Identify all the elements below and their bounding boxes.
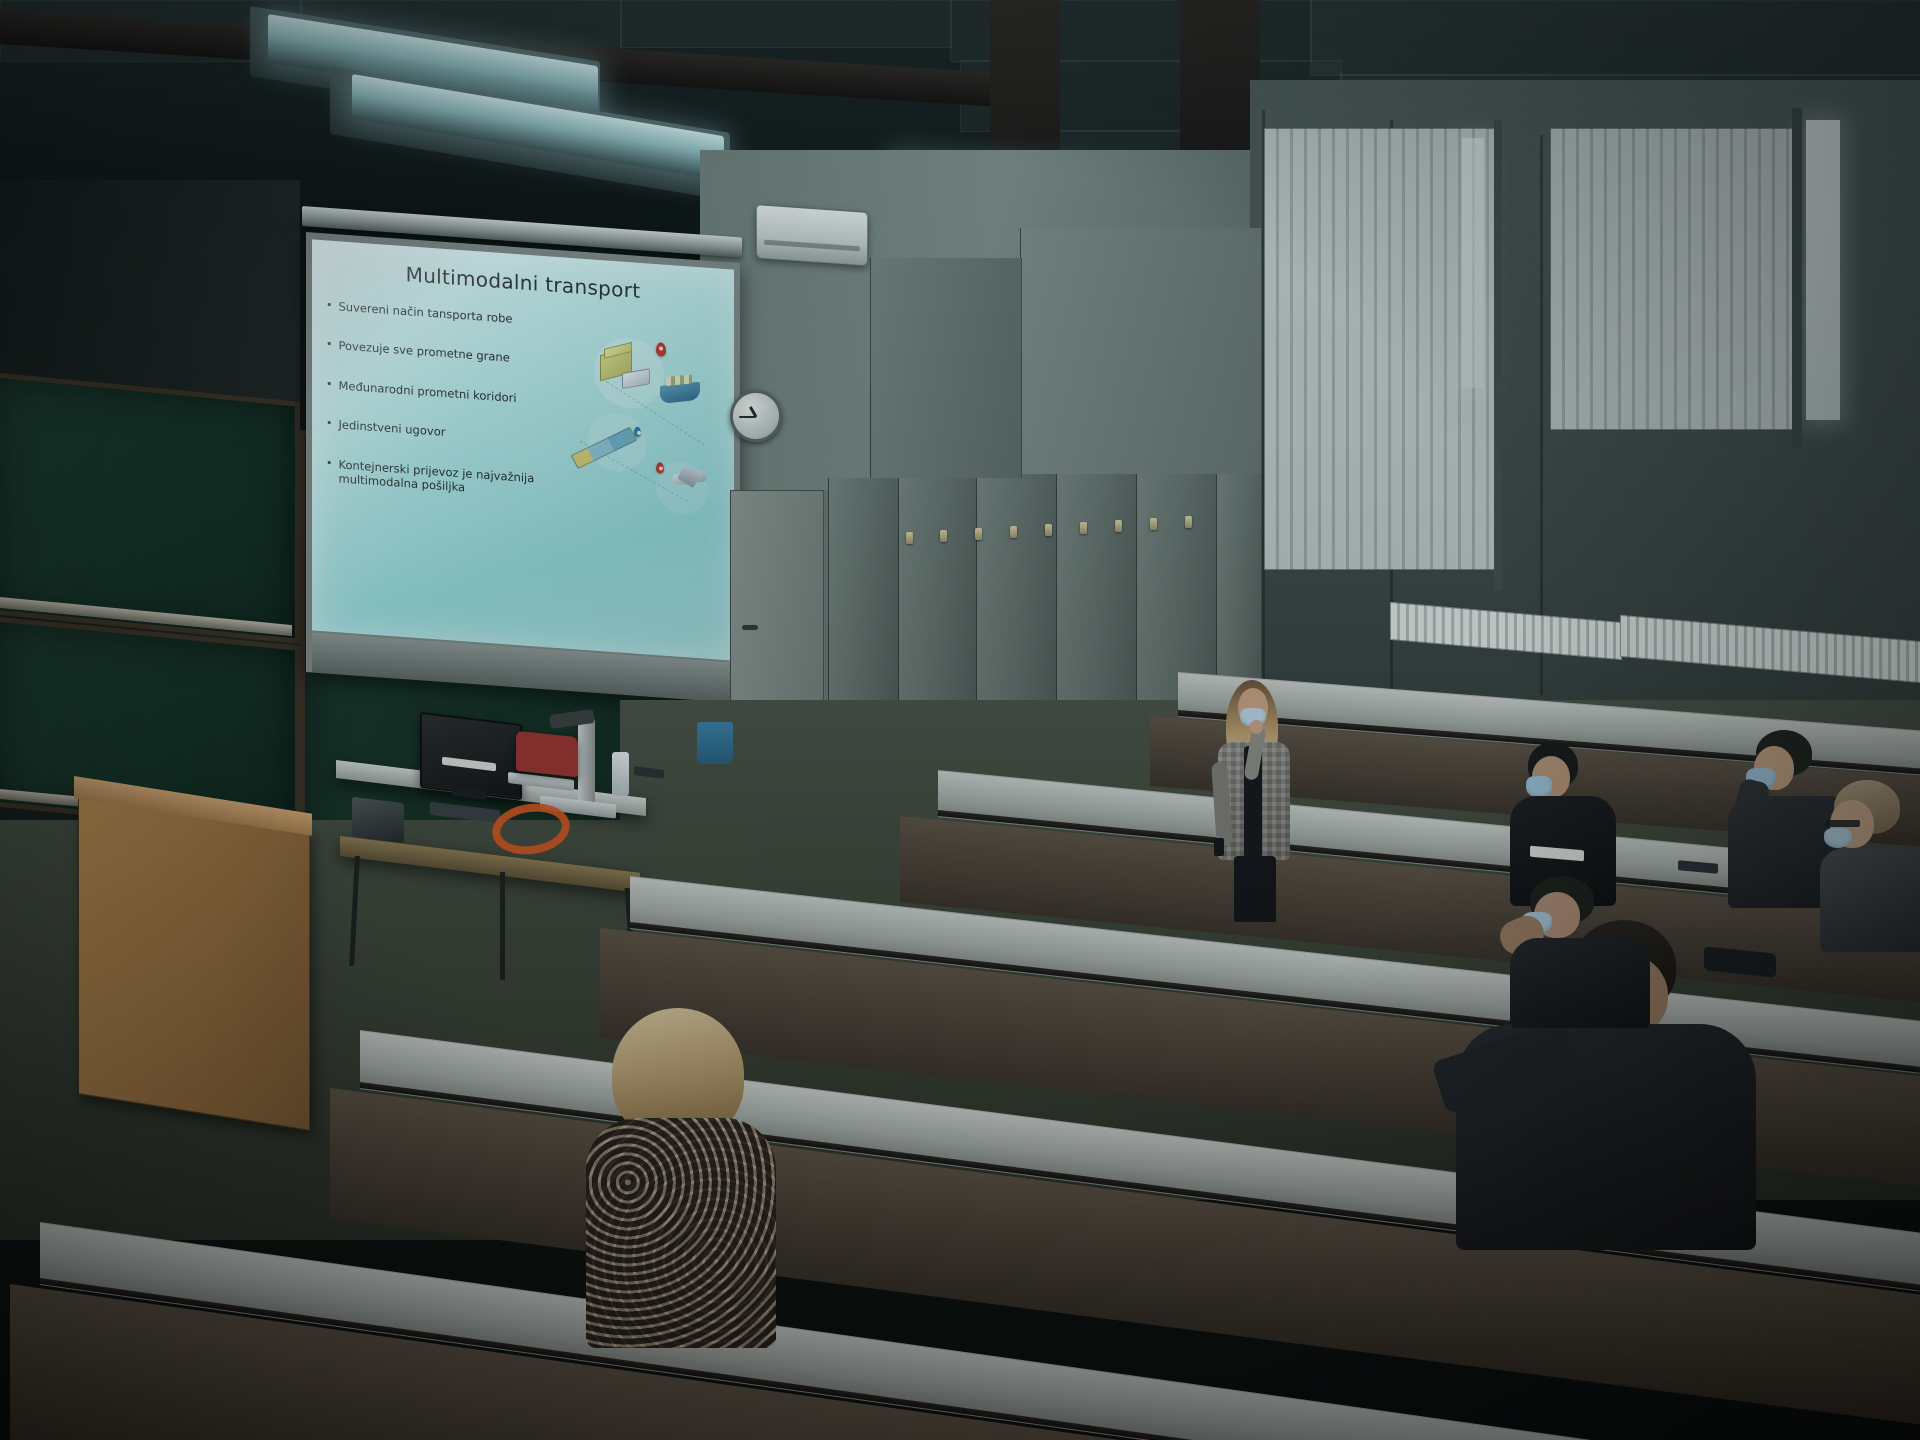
- bullet-text: Kontejnerski prijevoz je najvažnija mult…: [339, 457, 577, 503]
- audience-student-4-jacket: [1510, 938, 1650, 1028]
- coat-hook-icon: [975, 528, 982, 540]
- air-conditioner: [756, 204, 868, 266]
- multimodal-transport-diagram: [560, 313, 728, 515]
- slide-bullet: • Jedinstveni ugovor: [326, 417, 576, 449]
- lecture-hall-photo: Multimodalni transport • Suvereni način …: [0, 0, 1920, 1440]
- presenter-legs: [1234, 856, 1276, 922]
- hand-sanitizer-bottle[interactable]: [612, 752, 629, 796]
- screen-surface: Multimodalni transport • Suvereni način …: [306, 232, 740, 703]
- desk-leg: [500, 872, 505, 980]
- location-pin-icon: [634, 427, 641, 438]
- glasses-icon: [1826, 820, 1860, 827]
- location-pin-icon: [656, 342, 666, 357]
- coat-hook-icon: [940, 530, 947, 542]
- wall-cabinet-upper[interactable]: [870, 258, 1022, 478]
- slide-bullet: • Kontejnerski prijevoz je najvažnija mu…: [326, 456, 576, 503]
- projection-screen: Multimodalni transport • Suvereni način …: [296, 206, 746, 686]
- coat-hook-icon: [1045, 524, 1052, 536]
- bullet-marker-icon: •: [326, 417, 333, 432]
- slide-bullet: • Povezuje sve prometne grane: [326, 338, 576, 370]
- presenter-remote-clicker[interactable]: [1214, 838, 1224, 856]
- coat-hook-icon: [1150, 518, 1157, 530]
- lectern[interactable]: [78, 792, 310, 1131]
- slide-bullet: • Međunarodni prometni koridori: [326, 377, 576, 409]
- location-pin-icon: [656, 462, 664, 474]
- coat-hook-icon: [1010, 526, 1017, 538]
- door-handle-icon[interactable]: [742, 625, 758, 630]
- bullet-marker-icon: •: [326, 456, 333, 485]
- coat-hook-icon: [1115, 520, 1122, 532]
- coat-hook-icon: [1185, 516, 1192, 528]
- window-light: [1462, 138, 1484, 388]
- slide-bullet: • Suvereni način tansporta robe: [326, 298, 576, 330]
- bullet-text: Međunarodni prometni koridori: [339, 378, 517, 405]
- slide-bullet-list: • Suvereni način tansporta robe • Povezu…: [326, 298, 576, 527]
- audience-student-1-face-mask: [1526, 776, 1552, 798]
- document-visualizer-column[interactable]: [578, 715, 595, 812]
- window-frame: [1494, 120, 1502, 590]
- bullet-text: Jedinstveni ugovor: [339, 417, 446, 439]
- bullet-marker-icon: •: [326, 298, 333, 313]
- window-light: [1806, 120, 1840, 420]
- presenter-hand: [1250, 720, 1263, 734]
- bullet-marker-icon: •: [326, 377, 333, 392]
- audience-student-3-face-mask: [1824, 828, 1852, 848]
- ceiling-panel: [620, 0, 952, 48]
- coat-hook-icon: [906, 532, 913, 544]
- wall-cabinet-upper[interactable]: [1020, 228, 1262, 474]
- ceiling-panel: [1310, 0, 1920, 76]
- coat-hook-icon: [1080, 522, 1087, 534]
- waste-bin: [697, 722, 733, 764]
- ac-vent: [764, 240, 861, 252]
- slide-content: Multimodalni transport • Suvereni način …: [312, 239, 734, 660]
- audience-front-woman-blouse: [586, 1118, 776, 1348]
- audience-student-4: [1500, 876, 1660, 1026]
- bullet-text: Povezuje sve prometne grane: [339, 339, 510, 366]
- audience-student-3: [1820, 780, 1920, 950]
- vertical-blinds: [1550, 128, 1802, 430]
- equipment-box: [352, 797, 404, 843]
- bullet-marker-icon: •: [326, 338, 333, 353]
- audience-front-woman: [586, 1008, 776, 1348]
- chair[interactable]: [516, 731, 578, 778]
- bullet-text: Suvereni način tansporta robe: [339, 299, 513, 326]
- wall-clock: [730, 390, 782, 442]
- audience-student-3-jacket: [1820, 848, 1920, 952]
- clock-minute-hand: [739, 416, 756, 418]
- window-frame: [1792, 108, 1802, 448]
- presenter: [1196, 680, 1316, 920]
- computer-monitor[interactable]: [420, 712, 522, 801]
- wall-seam: [1540, 135, 1543, 695]
